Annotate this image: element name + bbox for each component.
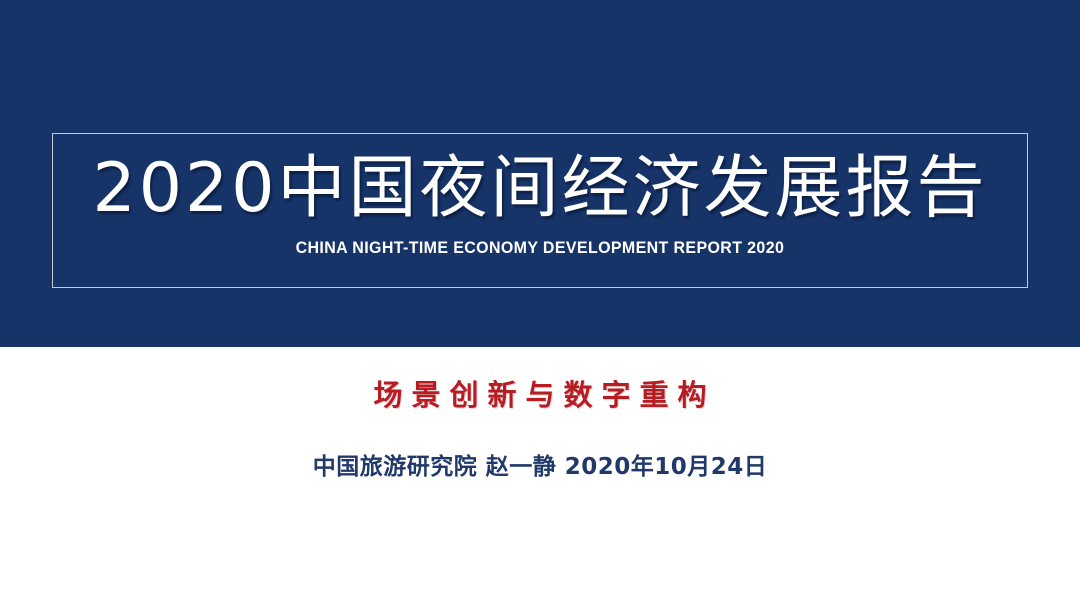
title-slide: 2020中国夜间经济发展报告 CHINA NIGHT-TIME ECONOMY … [0,0,1080,608]
page-title: 2020中国夜间经济发展报告 [92,155,987,223]
title-frame-content: 2020中国夜间经济发展报告 CHINA NIGHT-TIME ECONOMY … [53,134,1027,287]
title-frame-border: 2020中国夜间经济发展报告 CHINA NIGHT-TIME ECONOMY … [52,133,1028,288]
author-and-date-byline: 中国旅游研究院 赵一静 2020年10月24日 [0,447,1080,481]
report-theme-line: 场景创新与数字重构 [0,372,1080,414]
page-subtitle-english: CHINA NIGHT-TIME ECONOMY DEVELOPMENT REP… [296,238,785,258]
lower-white-area: 场景创新与数字重构 中国旅游研究院 赵一静 2020年10月24日 [0,347,1080,608]
